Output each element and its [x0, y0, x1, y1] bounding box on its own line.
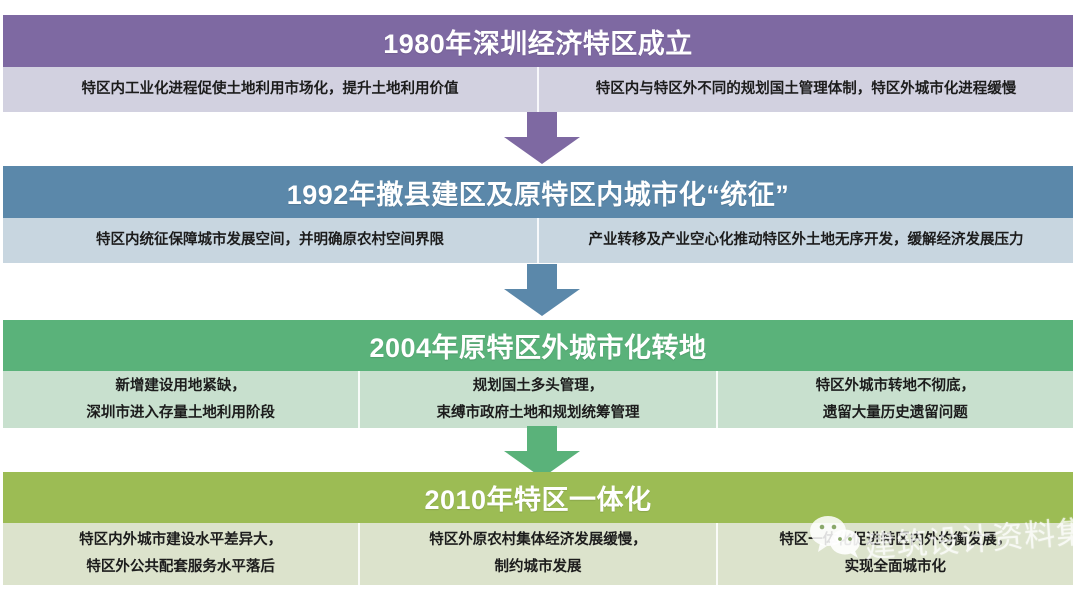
stage-2004: 2004年原特区外城市化转地 新增建设用地紧缺， 深圳市进入存量土地利用阶段 规…: [3, 320, 1073, 428]
arrow-down-icon-3: [504, 426, 580, 478]
stage-2010-cell-2-line-1: 特区外原农村集体经济发展缓慢，: [429, 527, 647, 554]
stage-2004-cell-2: 规划国土多头管理， 束缚市政府土地和规划统筹管理: [358, 371, 715, 428]
stage-2004-cell-1-line-1: 新增建设用地紧缺，: [115, 373, 246, 400]
stage-1980-cell-1-line-1: 特区内工业化进程促使土地利用市场化，提升土地利用价值: [82, 76, 459, 103]
stage-2010-cell-3-line-2: 实现全面城市化: [845, 554, 947, 581]
flow-diagram: 1980年深圳经济特区成立 特区内工业化进程促使土地利用市场化，提升土地利用价值…: [0, 0, 1080, 589]
stage-2010-cell-1-line-2: 特区外公共配套服务水平落后: [86, 554, 275, 581]
stage-2010-cell-1: 特区内外城市建设水平差异大， 特区外公共配套服务水平落后: [3, 523, 358, 585]
stage-1980-header: 1980年深圳经济特区成立: [3, 15, 1073, 67]
stage-2010: 2010年特区一体化 特区内外城市建设水平差异大， 特区外公共配套服务水平落后 …: [3, 472, 1073, 585]
stage-1992-body: 特区内统征保障城市发展空间，并明确原农村空间界限 产业转移及产业空心化推动特区外…: [3, 218, 1073, 263]
stage-1992: 1992年撤县建区及原特区内城市化“统征” 特区内统征保障城市发展空间，并明确原…: [3, 166, 1073, 263]
arrow-down-icon-2: [504, 264, 580, 316]
stage-1980: 1980年深圳经济特区成立 特区内工业化进程促使土地利用市场化，提升土地利用价值…: [3, 15, 1073, 112]
stage-2010-body: 特区内外城市建设水平差异大， 特区外公共配套服务水平落后 特区外原农村集体经济发…: [3, 523, 1073, 585]
stage-2004-cell-2-line-2: 束缚市政府土地和规划统筹管理: [436, 400, 639, 427]
stage-2010-header: 2010年特区一体化: [3, 472, 1073, 523]
stage-2004-cell-3: 特区外城市转地不彻底， 遗留大量历史遗留问题: [716, 371, 1073, 428]
stage-2010-cell-1-line-1: 特区内外城市建设水平差异大，: [79, 527, 282, 554]
stage-1992-header: 1992年撤县建区及原特区内城市化“统征”: [3, 166, 1073, 218]
arrow-down-icon-1: [504, 112, 580, 164]
stage-1992-cell-2: 产业转移及产业空心化推动特区外土地无序开发，缓解经济发展压力: [537, 218, 1073, 263]
stage-2010-cell-3-line-1: 特区一体化促进特区内外均衡发展，: [779, 527, 1011, 554]
stage-2004-header: 2004年原特区外城市化转地: [3, 320, 1073, 371]
stage-1992-cell-1: 特区内统征保障城市发展空间，并明确原农村空间界限: [3, 218, 537, 263]
stage-2010-cell-2-line-2: 制约城市发展: [494, 554, 581, 581]
stage-1980-body: 特区内工业化进程促使土地利用市场化，提升土地利用价值 特区内与特区外不同的规划国…: [3, 67, 1073, 112]
stage-1980-cell-1: 特区内工业化进程促使土地利用市场化，提升土地利用价值: [3, 67, 537, 112]
stage-2004-cell-1: 新增建设用地紧缺， 深圳市进入存量土地利用阶段: [3, 371, 358, 428]
stage-2004-cell-1-line-2: 深圳市进入存量土地利用阶段: [86, 400, 275, 427]
stage-1992-cell-1-line-1: 特区内统征保障城市发展空间，并明确原农村空间界限: [96, 227, 444, 254]
stage-1980-cell-2-line-1: 特区内与特区外不同的规划国土管理体制，特区外城市化进程缓慢: [596, 76, 1017, 103]
stage-1980-cell-2: 特区内与特区外不同的规划国土管理体制，特区外城市化进程缓慢: [537, 67, 1073, 112]
stage-2010-cell-3: 特区一体化促进特区内外均衡发展， 实现全面城市化: [716, 523, 1073, 585]
stage-1992-cell-2-line-1: 产业转移及产业空心化推动特区外土地无序开发，缓解经济发展压力: [589, 227, 1024, 254]
stage-2004-cell-3-line-1: 特区外城市转地不彻底，: [816, 373, 976, 400]
stage-2004-body: 新增建设用地紧缺， 深圳市进入存量土地利用阶段 规划国土多头管理， 束缚市政府土…: [3, 371, 1073, 428]
stage-2010-cell-2: 特区外原农村集体经济发展缓慢， 制约城市发展: [358, 523, 715, 585]
stage-2004-cell-3-line-2: 遗留大量历史遗留问题: [823, 400, 968, 427]
stage-2004-cell-2-line-1: 规划国土多头管理，: [473, 373, 604, 400]
